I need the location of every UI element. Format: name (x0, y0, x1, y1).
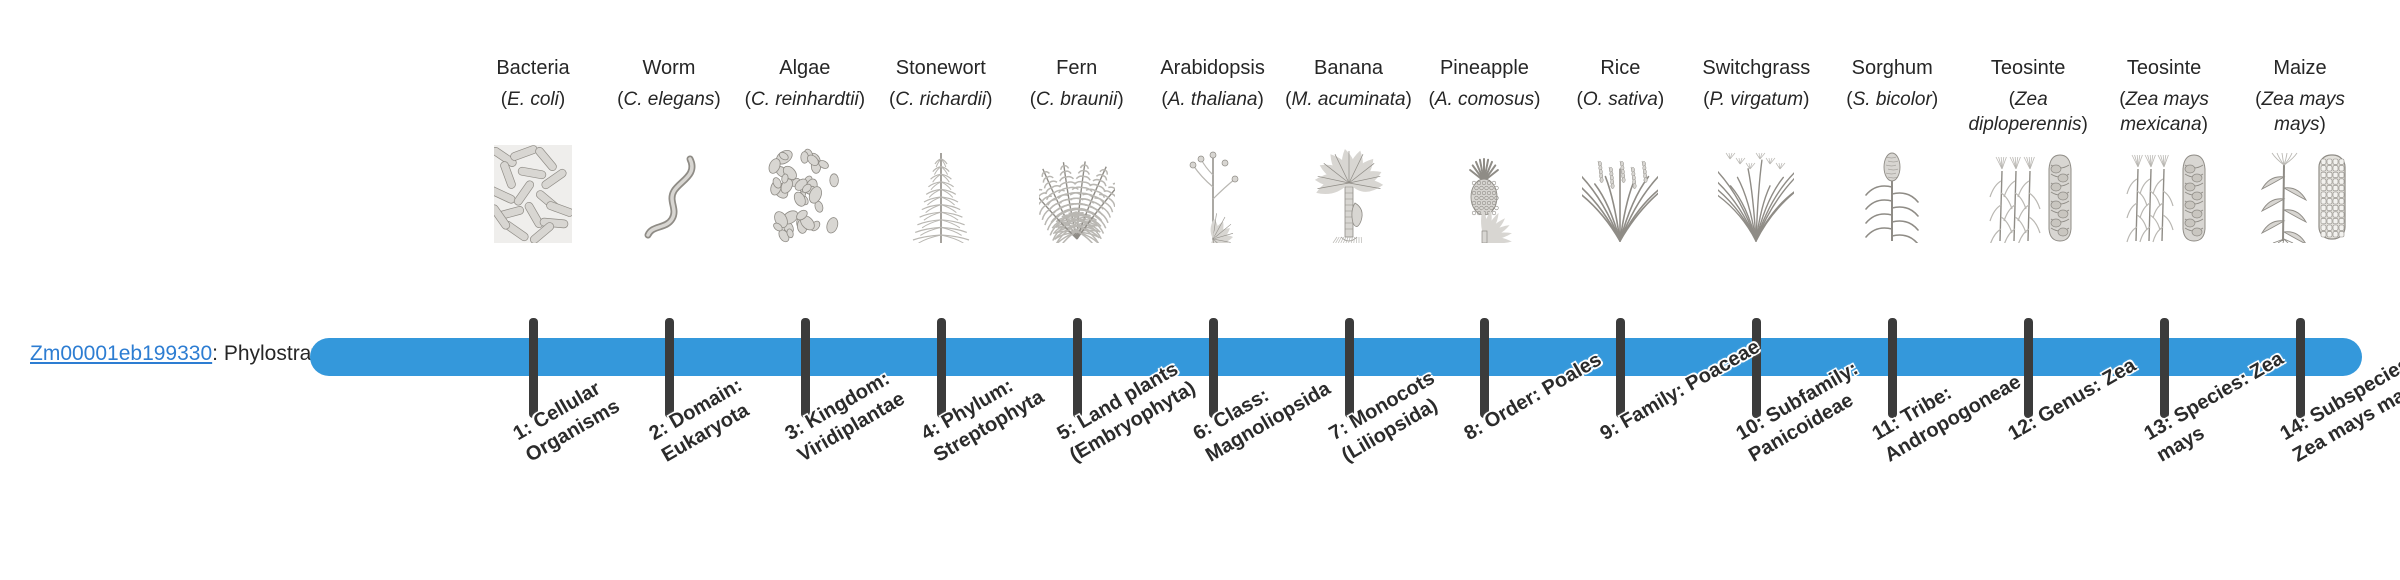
species-scientific-name: (P. virgatum) (1686, 87, 1826, 137)
species-column-bacteria-0: Bacteria(E. coli) (463, 55, 603, 243)
species-scientific-name: (S. bicolor) (1822, 87, 1962, 137)
phylostratum-tick-11[interactable] (1888, 318, 1897, 418)
rank-label-layer: 1: Cellular Organisms2: Domain: Eukaryot… (0, 425, 2400, 580)
switchgrass-illustration (1686, 143, 1826, 243)
species-scientific-name: (A. comosus) (1414, 87, 1554, 137)
rice-illustration (1550, 143, 1690, 243)
species-scientific-name-text: A. thaliana (1168, 89, 1258, 110)
phylostratum-tick-9[interactable] (1616, 318, 1625, 418)
species-scientific-name: (A. thaliana) (1143, 87, 1283, 137)
species-column-fern-4: Fern(C. braunii) (1007, 55, 1147, 243)
species-column-rice-8: Rice(O. sativa) (1550, 55, 1690, 243)
pineapple-illustration (1414, 143, 1554, 243)
species-column-banana-6: Banana(M. acuminata) (1279, 55, 1419, 243)
species-common-name: Maize (2230, 55, 2370, 81)
species-scientific-name-text: Zea diploperennis (1968, 89, 2081, 135)
sorghum-illustration (1822, 143, 1962, 243)
species-scientific-name: (C. elegans) (599, 87, 739, 137)
bacteria-illustration (463, 143, 603, 243)
species-scientific-name-text: C. elegans (624, 89, 715, 110)
species-scientific-name: (C. richardii) (871, 87, 1011, 137)
species-header-track: Bacteria(E. coli)Worm(C. elegans)Algae(C… (448, 55, 2348, 305)
species-scientific-name: (Zea diploperennis) (1958, 87, 2098, 137)
species-common-name: Rice (1550, 55, 1690, 81)
species-column-pineapple-7: Pineapple(A. comosus) (1414, 55, 1554, 243)
species-scientific-name-text: Zea mays mays (2261, 89, 2344, 135)
species-scientific-name-text: M. acuminata (1292, 89, 1406, 110)
species-column-worm-1: Worm(C. elegans) (599, 55, 739, 243)
species-common-name: Teosinte (2094, 55, 2234, 81)
algae-illustration (735, 143, 875, 243)
species-column-teosinte-11: Teosinte(Zea diploperennis) (1958, 55, 2098, 243)
phylostratum-tick-10[interactable] (1752, 318, 1761, 418)
species-column-arabidopsis-5: Arabidopsis(A. thaliana) (1143, 55, 1283, 243)
worm-illustration (599, 143, 739, 243)
species-scientific-name-text: E. coli (507, 89, 559, 110)
species-scientific-name: (Zea mays mays) (2230, 87, 2370, 137)
teosinte-diploperennis-illustration (1958, 143, 2098, 243)
species-common-name: Fern (1007, 55, 1147, 81)
species-common-name: Worm (599, 55, 739, 81)
species-column-teosinte-12: Teosinte(Zea mays mexicana) (2094, 55, 2234, 243)
phylostratum-tick-14[interactable] (2296, 318, 2305, 418)
phylostratum-tick-2[interactable] (665, 318, 674, 418)
species-scientific-name-text: C. braunii (1036, 89, 1117, 110)
phylostratum-tick-3[interactable] (801, 318, 810, 418)
phylostratum-figure: Zm00001eb199330: Phylostratum 1 Bacteria… (0, 0, 2400, 580)
arabidopsis-illustration (1143, 143, 1283, 243)
species-column-sorghum-10: Sorghum(S. bicolor) (1822, 55, 1962, 243)
species-scientific-name-text: A. comosus (1435, 89, 1534, 110)
species-common-name: Switchgrass (1686, 55, 1826, 81)
phylostratum-tick-4[interactable] (937, 318, 946, 418)
species-scientific-name: (E. coli) (463, 87, 603, 137)
phylostratum-tick-13[interactable] (2160, 318, 2169, 418)
species-scientific-name-text: O. sativa (1583, 89, 1658, 110)
species-column-algae-2: Algae(C. reinhardtii) (735, 55, 875, 243)
species-scientific-name-text: P. virgatum (1709, 89, 1803, 110)
species-scientific-name: (C. braunii) (1007, 87, 1147, 137)
species-scientific-name: (C. reinhardtii) (735, 87, 875, 137)
species-common-name: Algae (735, 55, 875, 81)
phylostratum-tick-12[interactable] (2024, 318, 2033, 418)
species-scientific-name-text: C. richardii (895, 89, 986, 110)
phylostratum-tick-7[interactable] (1345, 318, 1354, 418)
phylostratum-tick-6[interactable] (1209, 318, 1218, 418)
phylostratum-tick-1[interactable] (529, 318, 538, 418)
species-scientific-name-text: Zea mays mexicana (2120, 89, 2209, 135)
species-column-maize-13: Maize(Zea mays mays) (2230, 55, 2370, 243)
species-common-name: Sorghum (1822, 55, 1962, 81)
species-column-stonewort-3: Stonewort(C. richardii) (871, 55, 1011, 243)
species-column-switchgrass-9: Switchgrass(P. virgatum) (1686, 55, 1826, 243)
phylostratum-bar-area (0, 300, 2400, 430)
phylostratum-tick-8[interactable] (1480, 318, 1489, 418)
species-common-name: Pineapple (1414, 55, 1554, 81)
maize-illustration (2230, 143, 2370, 243)
species-common-name: Banana (1279, 55, 1419, 81)
stonewort-illustration (871, 143, 1011, 243)
species-scientific-name: (M. acuminata) (1279, 87, 1419, 137)
species-scientific-name: (Zea mays mexicana) (2094, 87, 2234, 137)
phylostratum-bar[interactable] (310, 338, 2362, 376)
fern-illustration (1007, 143, 1147, 243)
species-scientific-name: (O. sativa) (1550, 87, 1690, 137)
species-common-name: Teosinte (1958, 55, 2098, 81)
species-scientific-name-text: C. reinhardtii (751, 89, 859, 110)
species-common-name: Stonewort (871, 55, 1011, 81)
banana-illustration (1279, 143, 1419, 243)
species-common-name: Arabidopsis (1143, 55, 1283, 81)
phylostratum-tick-5[interactable] (1073, 318, 1082, 418)
species-common-name: Bacteria (463, 55, 603, 81)
teosinte-mexicana-illustration (2094, 143, 2234, 243)
species-scientific-name-text: S. bicolor (1853, 89, 1932, 110)
